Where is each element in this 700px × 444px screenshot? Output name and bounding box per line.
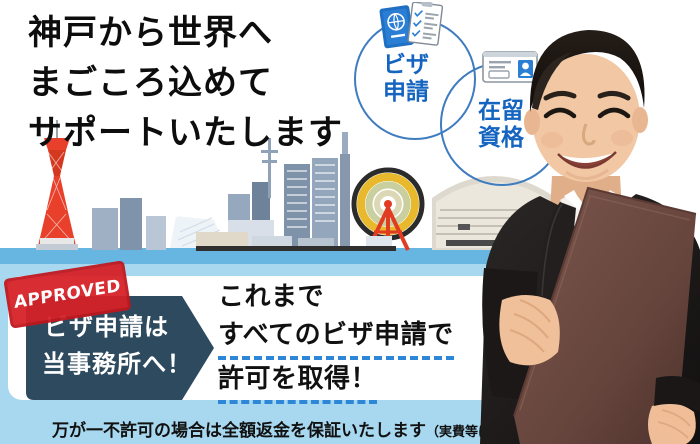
headline-block: 神戸から世界へ まごころ込めて サポートいたします [28,8,388,158]
hand [499,295,559,365]
headline-line-2: まごころ込めて [28,58,388,108]
achievement-text-block: これまで すべてのビザ申請で 許可を取得！ [218,278,454,404]
promotional-banner: 神戸から世界へ まごころ込めて サポートいたします ビザ 申請 在留 資格 [0,0,700,444]
achievement-line-1-text: これまで [218,282,324,312]
achievement-line-2-text: すべてのビザ申請で [218,316,454,360]
achievement-line-3: 許可を取得！ [218,360,454,404]
achievement-line-1: これまで [218,278,454,316]
achievement-line-2: すべてのビザ申請で [218,316,454,360]
headline-line-3: サポートいたします [28,108,388,158]
approved-stamp-label: APPROVED [14,276,122,313]
businessman-portrait [480,0,700,444]
callout-line-2: 当事務所へ！ [42,349,192,379]
headline-line-1: 神戸から世界へ [28,8,388,58]
hand-lower [648,403,696,444]
guarantee-main-text: 万が一不許可の場合は全額返金を保証いたします [52,421,426,441]
achievement-line-3-text: 許可を取得！ [218,360,377,404]
